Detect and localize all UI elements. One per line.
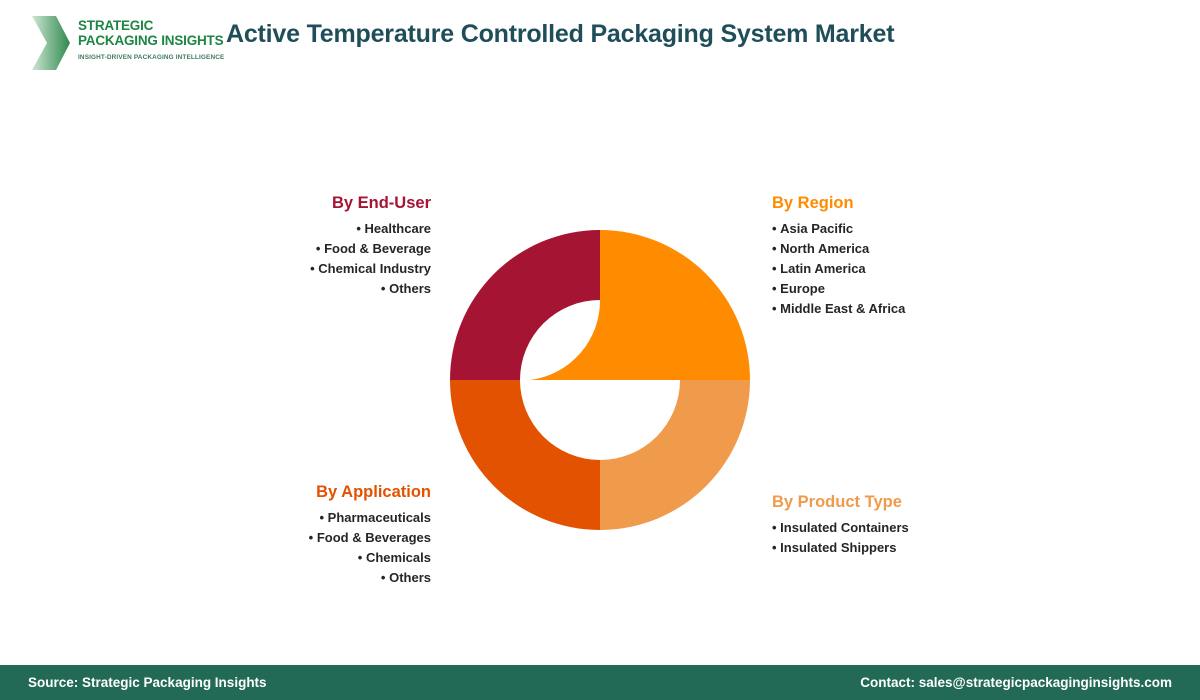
segment-title-product-type: By Product Type bbox=[772, 493, 1007, 512]
donut-chart bbox=[450, 230, 750, 530]
list-item: Europe bbox=[772, 279, 1007, 299]
list-item: Pharmaceuticals bbox=[196, 508, 431, 528]
segment-list-region: Asia PacificNorth AmericaLatin AmericaEu… bbox=[772, 219, 1007, 319]
logo-wordmark: STRATEGIC PACKAGING INSIGHTS INSIGHT-DRI… bbox=[78, 18, 198, 61]
segment-product-type: By Product Type Insulated ContainersInsu… bbox=[772, 493, 1007, 558]
list-item: Others bbox=[196, 568, 431, 588]
donut-chart-svg bbox=[450, 230, 750, 530]
footer-source: Source: Strategic Packaging Insights bbox=[28, 675, 267, 690]
segment-list-application: PharmaceuticalsFood & BeveragesChemicals… bbox=[196, 508, 431, 588]
segment-title-end-user: By End-User bbox=[196, 194, 431, 213]
list-item: Asia Pacific bbox=[772, 219, 1007, 239]
list-item: Latin America bbox=[772, 259, 1007, 279]
donut-slice-product-type bbox=[600, 380, 750, 530]
segment-end-user: By End-User HealthcareFood & BeverageChe… bbox=[196, 194, 431, 299]
segment-list-end-user: HealthcareFood & BeverageChemical Indust… bbox=[196, 219, 431, 299]
list-item: Food & Beverages bbox=[196, 528, 431, 548]
footer-contact: Contact: sales@strategicpackaginginsight… bbox=[860, 675, 1172, 690]
header: STRATEGIC PACKAGING INSIGHTS INSIGHT-DRI… bbox=[0, 0, 1200, 90]
segment-list-product-type: Insulated ContainersInsulated Shippers bbox=[772, 518, 1007, 558]
footer-bar: Source: Strategic Packaging Insights Con… bbox=[0, 665, 1200, 700]
list-item: Chemicals bbox=[196, 548, 431, 568]
logo-line-1: STRATEGIC bbox=[78, 18, 198, 33]
segment-title-application: By Application bbox=[196, 483, 431, 502]
segment-application: By Application PharmaceuticalsFood & Bev… bbox=[196, 483, 431, 588]
segment-region: By Region Asia PacificNorth AmericaLatin… bbox=[772, 194, 1007, 319]
list-item: Others bbox=[196, 279, 431, 299]
chevron-logo-icon bbox=[28, 14, 72, 72]
segment-title-region: By Region bbox=[772, 194, 1007, 213]
logo-line-2: PACKAGING INSIGHTS bbox=[78, 33, 198, 48]
brand-logo: STRATEGIC PACKAGING INSIGHTS INSIGHT-DRI… bbox=[28, 12, 198, 74]
donut-slice-application bbox=[450, 380, 600, 530]
list-item: Middle East & Africa bbox=[772, 299, 1007, 319]
list-item: Insulated Shippers bbox=[772, 538, 1007, 558]
list-item: Insulated Containers bbox=[772, 518, 1007, 538]
logo-tagline: INSIGHT-DRIVEN PACKAGING INTELLIGENCE bbox=[78, 54, 198, 61]
list-item: Chemical Industry bbox=[196, 259, 431, 279]
list-item: Food & Beverage bbox=[196, 239, 431, 259]
page-title: Active Temperature Controlled Packaging … bbox=[226, 20, 894, 49]
list-item: Healthcare bbox=[196, 219, 431, 239]
list-item: North America bbox=[772, 239, 1007, 259]
